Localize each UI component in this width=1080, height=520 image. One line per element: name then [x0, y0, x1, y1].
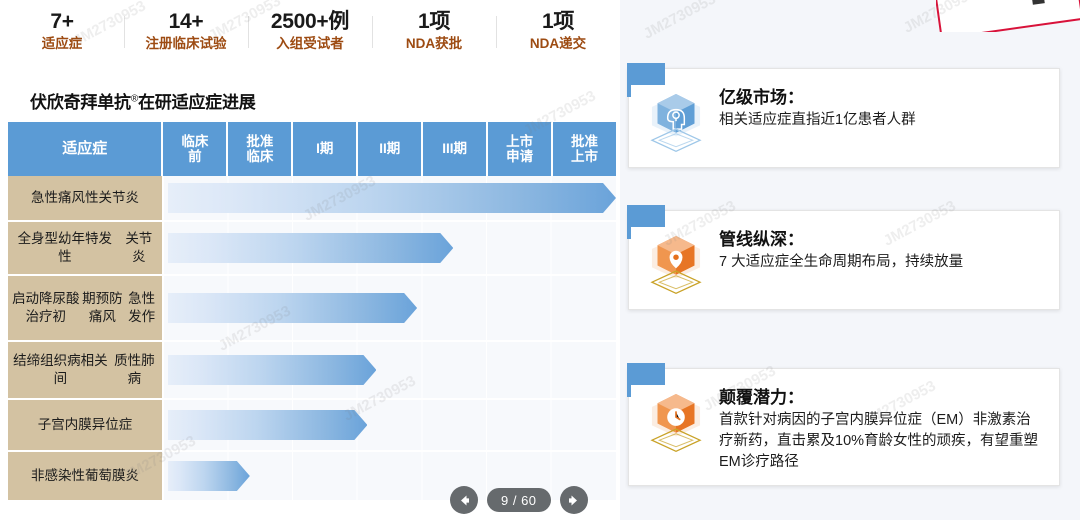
indication-cell: 结缔组织病相关间质性肺病 [8, 342, 164, 398]
progress-arrow [168, 233, 453, 263]
stats-strip: 7+适应症14+注册临床试验2500+例入组受试者1项NDA获批1项NDA递交 [0, 0, 620, 62]
col-header-line2: 上市 [571, 149, 598, 164]
progress-arrow [168, 410, 367, 440]
highlights-panel: 亿级市场：相关适应症直指近1亿患者人群管线纵深：7 大适应症全生命周期布局，持续… [620, 0, 1080, 520]
card-title: 管线纵深： [719, 229, 963, 250]
col-header-line1: 临床 [181, 134, 208, 149]
card-description: 7 大适应症全生命周期布局，持续放量 [719, 252, 963, 273]
stat-label: 适应症 [42, 36, 83, 52]
indication-cell: 急性痛风性关节炎 [8, 176, 164, 220]
table-col-header-3: I期 [293, 122, 358, 176]
card-description: 相关适应症直指近1亿患者人群 [719, 110, 916, 131]
progress-arrow [168, 355, 376, 385]
stat-number: 14+ [169, 10, 204, 34]
card-title: 亿级市场： [719, 87, 916, 108]
highlight-card-3[interactable]: 颠覆潜力：首款针对病因的子宫内膜异位症（EM）非激素治疗新药，直击累及10%育龄… [628, 368, 1060, 486]
stat-number: 2500+例 [271, 10, 349, 34]
progress-track [164, 176, 616, 220]
card-title-text: 亿级市场 [719, 88, 787, 107]
table-col-header-1: 临床前 [163, 122, 228, 176]
table-col-header-0: 适应症 [8, 122, 163, 176]
table-col-header-6: 上市申请 [488, 122, 553, 176]
col-header-line1: 批准 [571, 134, 598, 149]
stat-label: NDA获批 [406, 36, 462, 52]
progress-track [164, 342, 616, 398]
progress-track [164, 276, 616, 340]
progress-track [164, 400, 616, 450]
col-header-line2: 前 [188, 149, 202, 164]
table-col-header-5: III期 [423, 122, 488, 176]
page-indicator: 9 / 60 [487, 488, 551, 512]
product-box-image [936, 0, 1080, 32]
col-header-line1: 批准 [246, 134, 273, 149]
registered-mark-icon: ® [131, 93, 138, 104]
col-header-line2: 临床 [246, 149, 273, 164]
stat-item-1: 7+适应症 [0, 10, 124, 52]
col-header-line1: 适应症 [62, 140, 107, 157]
stat-item-2: 14+注册临床试验 [124, 10, 248, 52]
indication-cell: 启动降尿酸治疗初期预防痛风急性发作 [8, 276, 164, 340]
card-title-colon: ： [787, 388, 804, 407]
table-col-header-7: 批准上市 [553, 122, 616, 176]
stat-label: NDA递交 [530, 36, 586, 52]
progress-arrow [168, 293, 417, 323]
card-title-colon: ： [787, 230, 804, 249]
card-description: 首款针对病因的子宫内膜异位症（EM）非激素治疗新药，直击累及10%育龄女性的顽疾… [719, 410, 1045, 473]
next-page-button[interactable] [560, 486, 588, 514]
stat-item-5: 1项NDA递交 [496, 10, 620, 52]
table-row: 全身型幼年特发性关节炎 [8, 222, 616, 276]
page-title-suffix: 在研适应症进展 [138, 93, 256, 112]
stat-item-3: 2500+例入组受试者 [248, 10, 372, 52]
stat-item-4: 1项NDA获批 [372, 10, 496, 52]
stat-number: 1项 [418, 10, 450, 34]
col-header-line2: 申请 [506, 149, 533, 164]
lightbulb-head-cube-icon [639, 81, 713, 155]
progress-arrow [168, 183, 616, 213]
table-col-header-4: II期 [358, 122, 423, 176]
arrow-left-icon [457, 493, 472, 508]
progress-arrow [168, 461, 250, 491]
highlight-card-2[interactable]: 管线纵深：7 大适应症全生命周期布局，持续放量 [628, 210, 1060, 310]
stat-label: 入组受试者 [276, 36, 344, 52]
col-header-line1: I期 [316, 141, 333, 156]
table-row: 急性痛风性关节炎 [8, 176, 616, 222]
pagination[interactable]: 9 / 60 [450, 486, 588, 514]
col-header-line1: III期 [442, 141, 467, 156]
table-header-row: 适应症临床前批准临床I期II期III期上市申请批准上市 [8, 122, 616, 176]
table-row: 结缔组织病相关间质性肺病 [8, 342, 616, 400]
page-title-brand: 伏欣奇拜单抗 [30, 93, 131, 112]
card-title-text: 颠覆潜力 [719, 388, 787, 407]
prev-page-button[interactable] [450, 486, 478, 514]
progress-track [164, 222, 616, 274]
page-title: 伏欣奇拜单抗®在研适应症进展 [30, 88, 256, 113]
table-col-header-2: 批准临床 [228, 122, 293, 176]
indication-cell: 非感染性葡萄膜炎 [8, 452, 164, 500]
table-row: 启动降尿酸治疗初期预防痛风急性发作 [8, 276, 616, 342]
stat-number: 7+ [50, 10, 73, 34]
clock-cube-icon [639, 381, 713, 455]
card-title: 颠覆潜力： [719, 387, 1045, 408]
col-header-line1: II期 [379, 141, 400, 156]
col-header-line1: 上市 [506, 134, 533, 149]
table-row: 子宫内膜异位症 [8, 400, 616, 452]
location-pin-cube-icon [639, 223, 713, 297]
indication-cell: 全身型幼年特发性关节炎 [8, 222, 164, 274]
indication-cell: 子宫内膜异位症 [8, 400, 164, 450]
arrow-right-icon [566, 493, 581, 508]
pipeline-panel: 7+适应症14+注册临床试验2500+例入组受试者1项NDA获批1项NDA递交 … [0, 0, 620, 520]
card-title-text: 管线纵深 [719, 230, 787, 249]
highlight-card-1[interactable]: 亿级市场：相关适应症直指近1亿患者人群 [628, 68, 1060, 168]
card-title-colon: ： [787, 88, 804, 107]
stat-label: 注册临床试验 [146, 36, 227, 52]
stat-number: 1项 [542, 10, 574, 34]
pipeline-table: 适应症临床前批准临床I期II期III期上市申请批准上市 急性痛风性关节炎全身型幼… [8, 122, 616, 502]
table-body: 急性痛风性关节炎全身型幼年特发性关节炎启动降尿酸治疗初期预防痛风急性发作结缔组织… [8, 176, 616, 502]
